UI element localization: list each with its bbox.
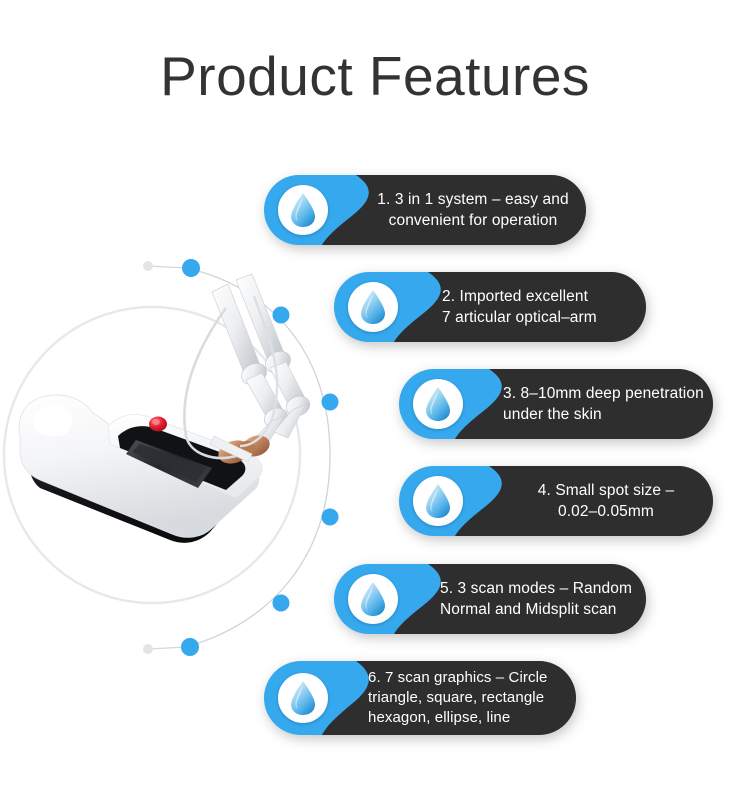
water-drop-icon xyxy=(348,574,398,624)
arc-dot-2 xyxy=(273,307,290,324)
arc-dot-1 xyxy=(182,259,200,277)
page-title: Product Features xyxy=(0,42,750,110)
laser-machine-body xyxy=(19,395,262,543)
arc-dot-5 xyxy=(273,595,290,612)
arc-dot-6 xyxy=(181,638,199,656)
product-features-page: Product Features xyxy=(0,0,750,796)
feature-card-6[interactable]: 6. 7 scan graphics – Circle triangle, sq… xyxy=(264,661,576,735)
feature-card-3[interactable]: 3. 8–10mm deep penetration under the ski… xyxy=(399,369,713,439)
arc-dot-4 xyxy=(322,509,339,526)
arc-end-dot-bottom xyxy=(143,644,153,654)
water-drop-icon xyxy=(413,476,463,526)
product-illustration xyxy=(0,240,370,670)
feature-text-4: 4. Small spot size – 0.02–0.05mm xyxy=(503,480,709,522)
feature-text-6: 6. 7 scan graphics – Circle triangle, sq… xyxy=(368,668,568,728)
arc-end-dot-top xyxy=(143,261,153,271)
feature-text-5: 5. 3 scan modes – Random Normal and Mids… xyxy=(440,578,638,620)
water-drop-icon xyxy=(278,185,328,235)
feature-text-2: 2. Imported excellent 7 articular optica… xyxy=(442,286,638,328)
water-drop-icon xyxy=(413,379,463,429)
feature-text-3: 3. 8–10mm deep penetration under the ski… xyxy=(503,383,709,425)
feature-card-1[interactable]: 1. 3 in 1 system – easy and convenient f… xyxy=(264,175,586,245)
arc-dot-3 xyxy=(322,394,339,411)
feature-text-1: 1. 3 in 1 system – easy and convenient f… xyxy=(370,189,576,231)
feature-card-5[interactable]: 5. 3 scan modes – Random Normal and Mids… xyxy=(334,564,646,634)
water-drop-icon xyxy=(348,282,398,332)
feature-card-4[interactable]: 4. Small spot size – 0.02–0.05mm xyxy=(399,466,713,536)
feature-card-2[interactable]: 2. Imported excellent 7 articular optica… xyxy=(334,272,646,342)
water-drop-icon xyxy=(278,673,328,723)
